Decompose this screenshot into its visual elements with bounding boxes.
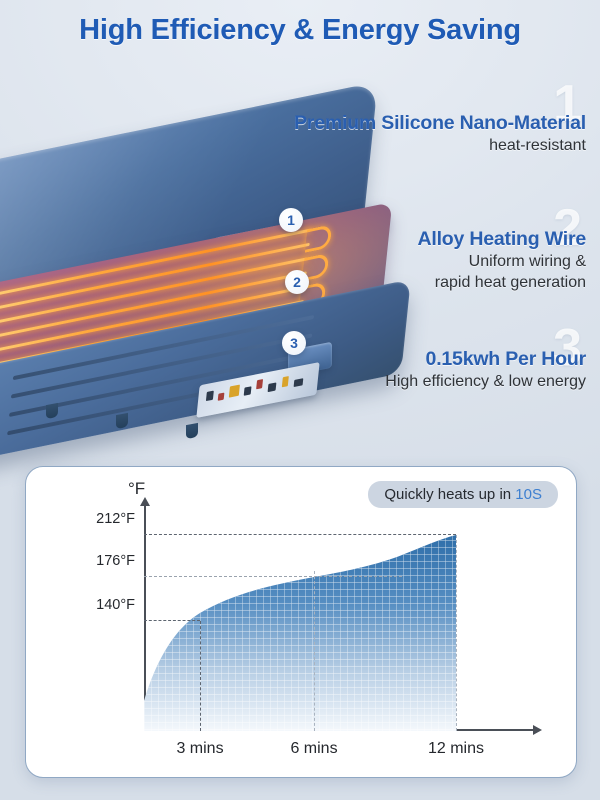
page-title: High Efficiency & Energy Saving	[0, 14, 600, 47]
marker-6min	[314, 571, 315, 731]
infographic-page: High Efficiency & Energy Saving 1 2 3	[0, 0, 600, 800]
product-illustration	[0, 118, 440, 448]
feature-block-3: 0.15kwh Per Hour High efficiency & low e…	[385, 348, 586, 393]
gridline-176	[144, 576, 402, 577]
base-foot	[186, 423, 198, 439]
badge-highlight: 10S	[515, 486, 542, 503]
feature-1-heading: Premium Silicone Nano-Material	[294, 112, 586, 134]
heat-speed-badge: Quickly heats up in 10S	[368, 481, 558, 508]
feature-3-subtext: High efficiency & low energy	[385, 372, 586, 392]
y-tick-176: 176°F	[96, 553, 135, 569]
callout-badge-3[interactable]: 3	[282, 331, 306, 355]
y-tick-212: 212°F	[96, 511, 135, 527]
feature-1-subtext: heat-resistant	[294, 136, 586, 156]
feature-2-heading: Alloy Heating Wire	[417, 228, 586, 250]
feature-2-subtext-line2: rapid heat generation	[417, 273, 586, 293]
gridline-212	[144, 534, 456, 535]
marker-3min	[200, 621, 201, 731]
feature-3-heading: 0.15kwh Per Hour	[385, 348, 586, 370]
badge-label: Quickly heats up in	[384, 486, 515, 503]
temperature-chart: °F	[144, 519, 514, 731]
feature-2-subtext-line1: Uniform wiring &	[417, 252, 586, 272]
marker-12min	[456, 535, 457, 731]
y-tick-140: 140°F	[96, 597, 135, 613]
callout-badge-2[interactable]: 2	[285, 270, 309, 294]
feature-block-2: Alloy Heating Wire Uniform wiring & rapi…	[417, 228, 586, 293]
x-tick-12min: 12 mins	[428, 740, 484, 758]
feature-block-1: Premium Silicone Nano-Material heat-resi…	[294, 112, 586, 157]
callout-badge-1[interactable]: 1	[279, 208, 303, 232]
x-tick-6min: 6 mins	[290, 740, 337, 758]
gridline-140	[144, 620, 200, 621]
chart-card: Quickly heats up in 10S °F	[25, 466, 577, 778]
y-axis-unit-label: °F	[128, 479, 145, 499]
x-tick-3min: 3 mins	[176, 740, 223, 758]
